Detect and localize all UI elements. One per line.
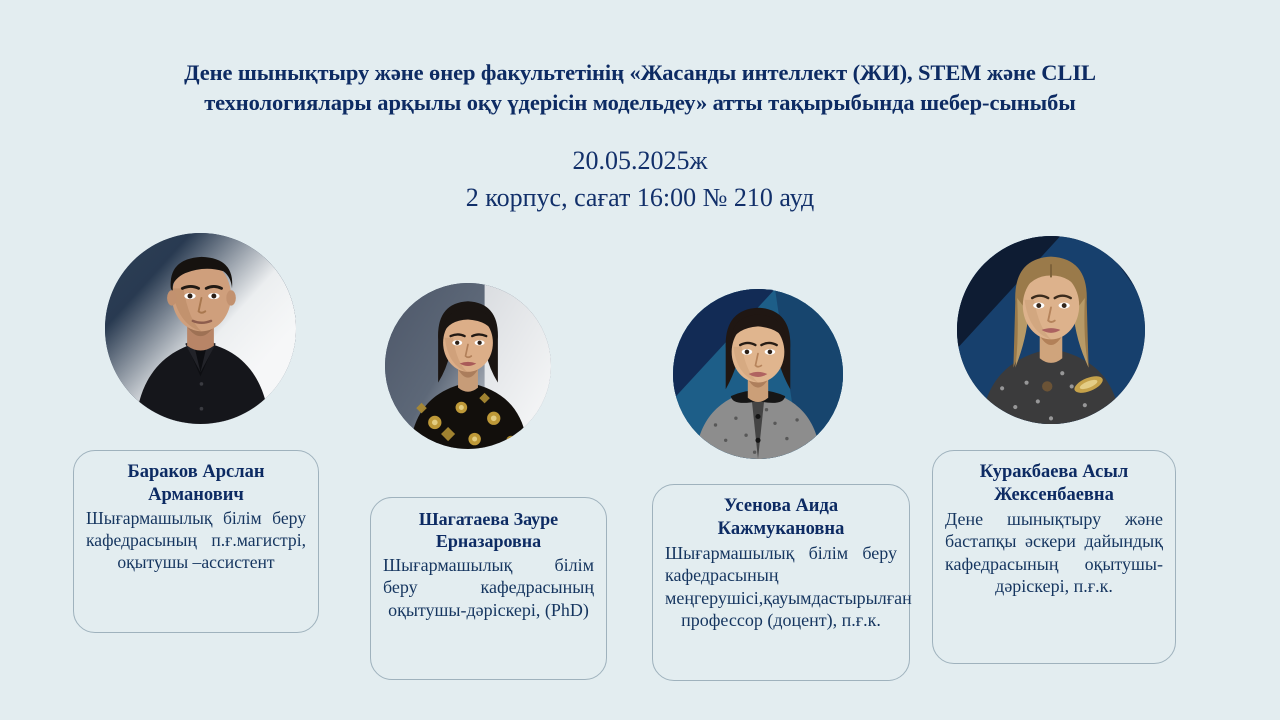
presenter-card-2: Шагатаева Зауре Ерназаровна Шығармашылық… — [370, 497, 607, 680]
presenter-name: Куракбаева Асыл Жексенбаевна — [945, 461, 1163, 507]
page-title: Дене шынықтыру және өнер факультетінің «… — [78, 58, 1202, 118]
presenter-role: Дене шынықтыру және бастапқы әскери дайы… — [945, 508, 1163, 598]
presenter-name: Бараков Арслан Арманович — [86, 461, 306, 507]
presenter-card-1: Бараков Арслан Арманович Шығармашылық бі… — [73, 450, 319, 633]
presenter-role: Шығармашылық білім беру кафедрасының оқы… — [383, 554, 594, 622]
page-title-line-1: Дене шынықтыру және өнер факультетінің «… — [78, 58, 1202, 88]
presenter-card-4: Куракбаева Асыл Жексенбаевна Дене шынықт… — [932, 450, 1176, 664]
portrait-barakov-arslan — [105, 233, 296, 424]
event-date: 20.05.2025ж — [340, 143, 940, 180]
portrait-kurakbaeva-asyl — [957, 236, 1145, 424]
event-details: 20.05.2025ж 2 корпус, сағат 16:00 № 210 … — [340, 143, 940, 217]
portrait-usenova-aida — [673, 289, 843, 459]
presenter-role: Шығармашылық білім беру кафедрасының п.ғ… — [86, 508, 306, 574]
page-title-line-2: технологиялары арқылы оқу үдерісін модел… — [78, 88, 1202, 118]
presenter-name: Усенова Аида Кажмукановна — [665, 495, 897, 541]
presenter-card-3: Усенова Аида Кажмукановна Шығармашылық б… — [652, 484, 910, 681]
portrait-shagataeva-zaure — [385, 283, 551, 449]
presenter-name: Шагатаева Зауре Ерназаровна — [383, 508, 594, 553]
presenter-role: Шығармашылық білім беру кафедрасының мең… — [665, 542, 897, 632]
event-venue: 2 корпус, сағат 16:00 № 210 ауд — [340, 180, 940, 217]
